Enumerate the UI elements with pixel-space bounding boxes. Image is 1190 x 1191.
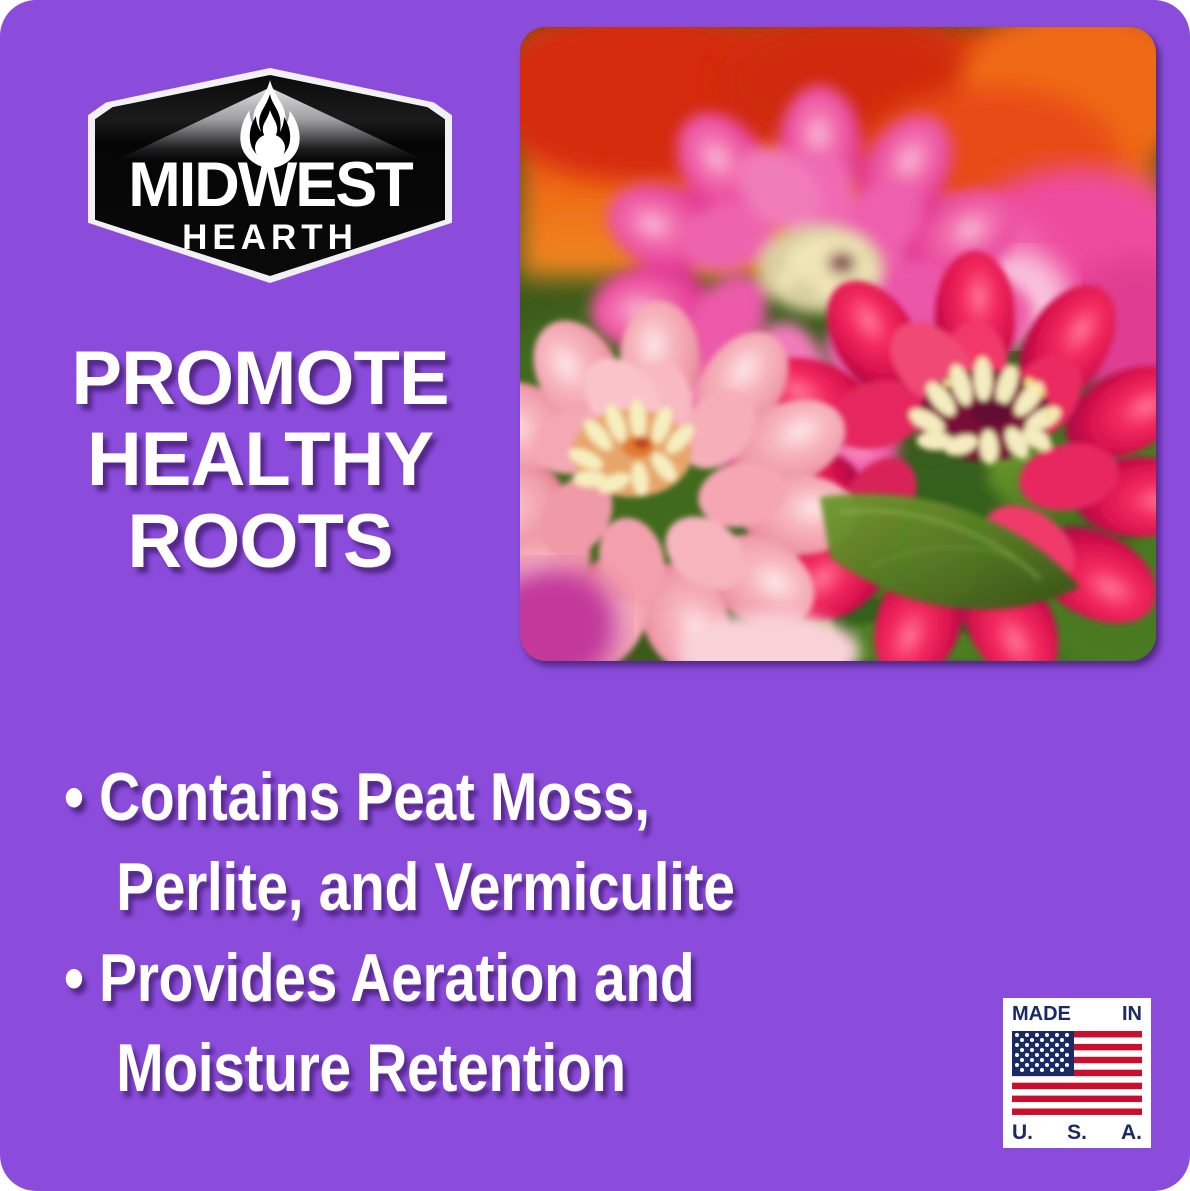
headline: PROMOTE HEALTHY ROOTS	[20, 338, 500, 582]
product-feature-card: MIDWEST HEARTH PROMOTE HEALTHY ROOTS	[0, 0, 1190, 1191]
headline-line-2: HEALTHY	[20, 419, 500, 500]
made-in-usa-top-text: MADE IN	[1012, 1004, 1142, 1024]
us-flag-icon	[1012, 1031, 1142, 1115]
bullet-2-line-2: Moisture Retention	[64, 1023, 896, 1113]
logo-brand-sub: HEARTH	[88, 220, 452, 255]
product-photo	[520, 27, 1156, 661]
brand-logo: MIDWEST HEARTH	[88, 68, 452, 283]
bullet-2-line-1: • Provides Aeration and	[64, 933, 896, 1023]
zinnia-flowers-image	[520, 27, 1156, 661]
made-in-usa-badge: MADE IN	[1003, 998, 1151, 1148]
logo-brand-word: MIDWEST	[88, 154, 452, 217]
bullet-1-line-1: • Contains Peat Moss,	[64, 752, 896, 842]
usa-u-label: U.	[1012, 1122, 1033, 1143]
made-label: MADE	[1012, 1004, 1071, 1024]
in-label: IN	[1122, 1004, 1142, 1024]
headline-line-1: PROMOTE	[20, 338, 500, 419]
headline-line-3: ROOTS	[20, 501, 500, 582]
usa-a-label: A.	[1121, 1122, 1142, 1143]
usa-s-label: S.	[1067, 1122, 1087, 1143]
made-in-usa-bottom-text: U. S. A.	[1012, 1122, 1142, 1143]
bullet-1-line-2: Perlite, and Vermiculite	[64, 842, 896, 932]
feature-bullet-list: • Contains Peat Moss, Perlite, and Vermi…	[64, 752, 896, 1114]
